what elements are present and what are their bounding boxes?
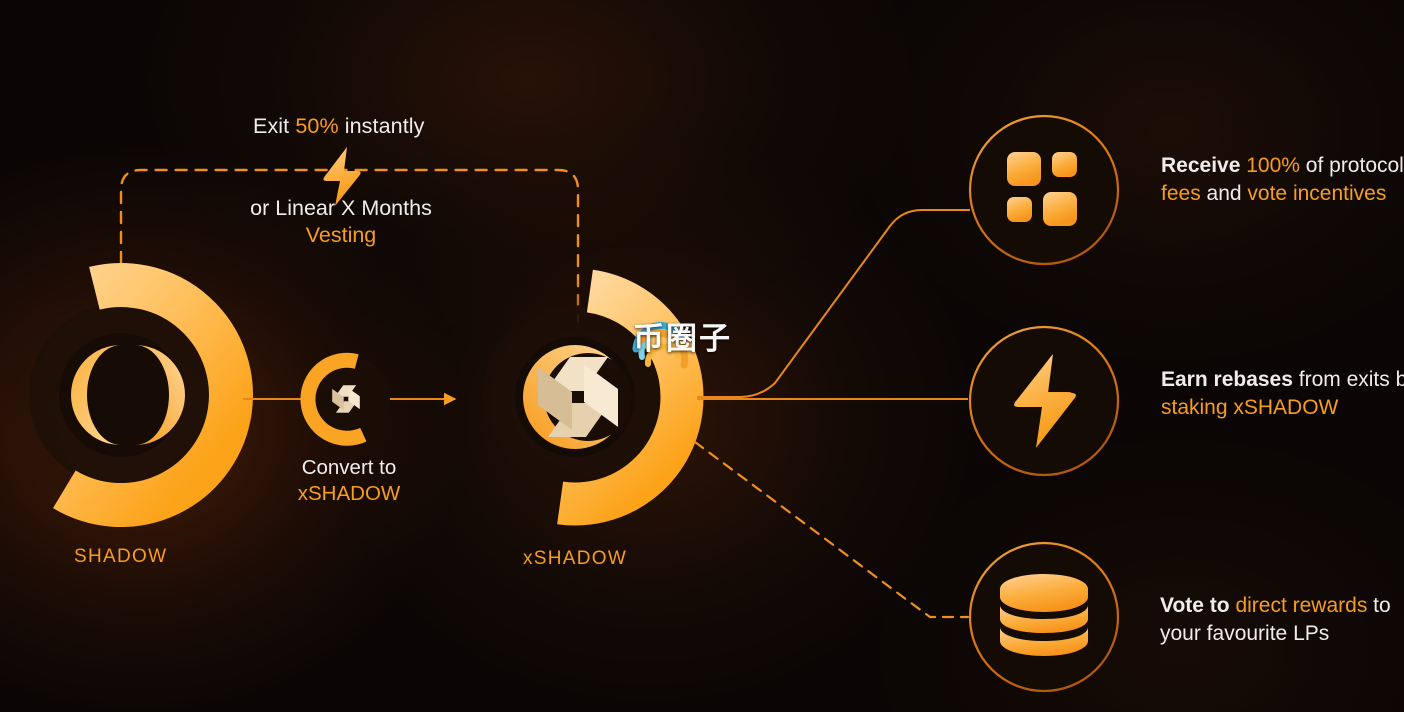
convert-note-text: Convert to xSHADOW: [295, 455, 403, 507]
feature-icon-rebases[interactable]: [970, 327, 1118, 475]
feature-text-part: from exits by: [1293, 368, 1404, 391]
feature-text-part: of protocol's: [1300, 154, 1404, 177]
token-label-xshadow: xSHADOW: [523, 548, 627, 570]
exit-note-highlight: 50%: [295, 114, 338, 138]
feature-icon-fees[interactable]: [970, 116, 1118, 264]
watermark-text: 币圈子: [633, 313, 732, 358]
exit-note-suffix: instantly: [339, 114, 425, 138]
watermark: 币圈子: [633, 313, 732, 358]
feature-text-part: Earn rebases: [1161, 368, 1293, 391]
feature-text-part: Vote to: [1160, 594, 1235, 617]
diagram-canvas: Exit 50% instantly or Linear X Months Ve…: [0, 0, 1404, 712]
vesting-note-text: or Linear X Months Vesting: [246, 195, 436, 249]
feature-text-part: 100%: [1246, 154, 1300, 177]
feature-text-fees: Receive 100% of protocol's fees and vote…: [1161, 152, 1404, 208]
feature-text-part: and: [1201, 182, 1248, 205]
exit-note-text: Exit 50% instantly: [253, 114, 425, 139]
xshadow-to-vote-connector: [695, 442, 968, 617]
feature-text-part: vote incentives: [1247, 182, 1386, 205]
vesting-note-line1: or Linear X Months: [246, 195, 436, 222]
token-label-shadow: SHADOW: [74, 546, 167, 568]
exit-note-prefix: Exit: [253, 114, 295, 138]
feature-text-part: Receive: [1161, 154, 1246, 177]
feature-icon-vote[interactable]: [970, 543, 1118, 691]
feature-text-part: staking xSHADOW: [1161, 396, 1338, 419]
convert-badge-icon: [299, 351, 390, 444]
feature-text-rebases: Earn rebases from exits by staking xSHAD…: [1161, 366, 1404, 422]
convert-note-line1: Convert to: [295, 455, 403, 481]
feature-text-vote: Vote to direct rewards to your favourite…: [1160, 592, 1404, 648]
feature-text-part: direct rewards: [1235, 594, 1367, 617]
feature-text-part: fees: [1161, 182, 1201, 205]
vesting-note-line2: Vesting: [246, 222, 436, 249]
shadow-token-logo: [1, 262, 254, 521]
convert-note-line2: xSHADOW: [295, 481, 403, 507]
xshadow-to-fees-connector: [697, 210, 970, 397]
